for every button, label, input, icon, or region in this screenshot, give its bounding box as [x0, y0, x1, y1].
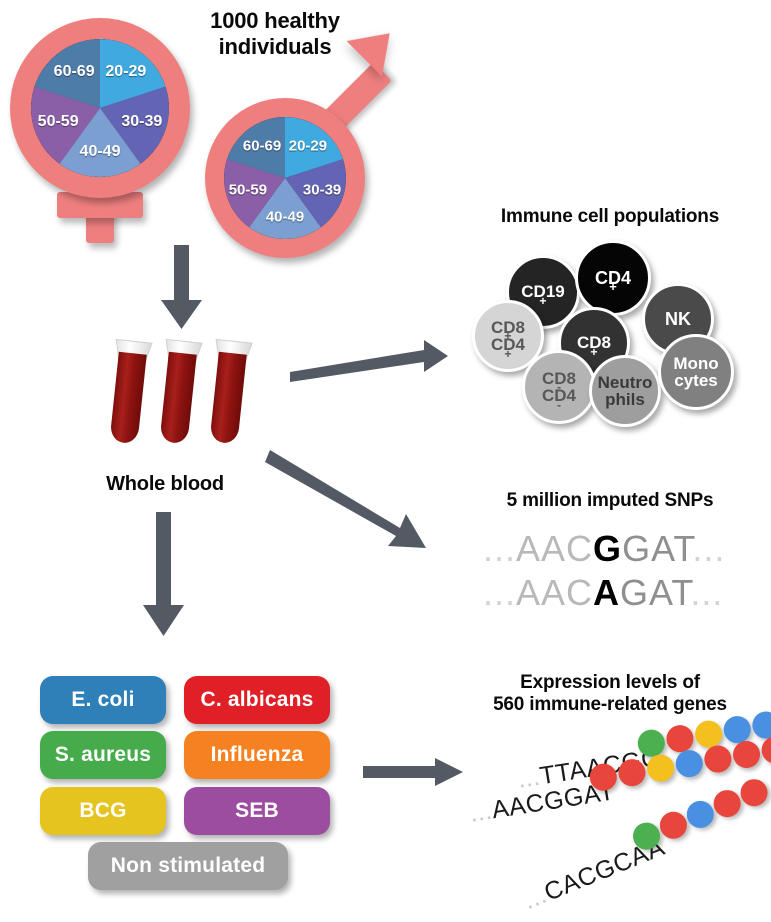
figure-canvas: 1000 healthy individuals 20-2930-3940-49… — [0, 0, 771, 922]
expression-bead — [703, 743, 734, 774]
expression-bead — [722, 714, 753, 745]
expression-bead — [737, 775, 771, 810]
expression-bead — [751, 709, 771, 740]
expression-bead — [760, 734, 771, 765]
expression-strands: ...TTAACGG...AACGGAT...CACGCAA — [0, 0, 771, 922]
expression-bead — [665, 723, 696, 754]
expression-bead — [731, 739, 762, 770]
expression-strand: ...CACGCAA — [520, 833, 669, 916]
expression-bead — [693, 718, 724, 749]
expression-bead — [674, 748, 705, 779]
